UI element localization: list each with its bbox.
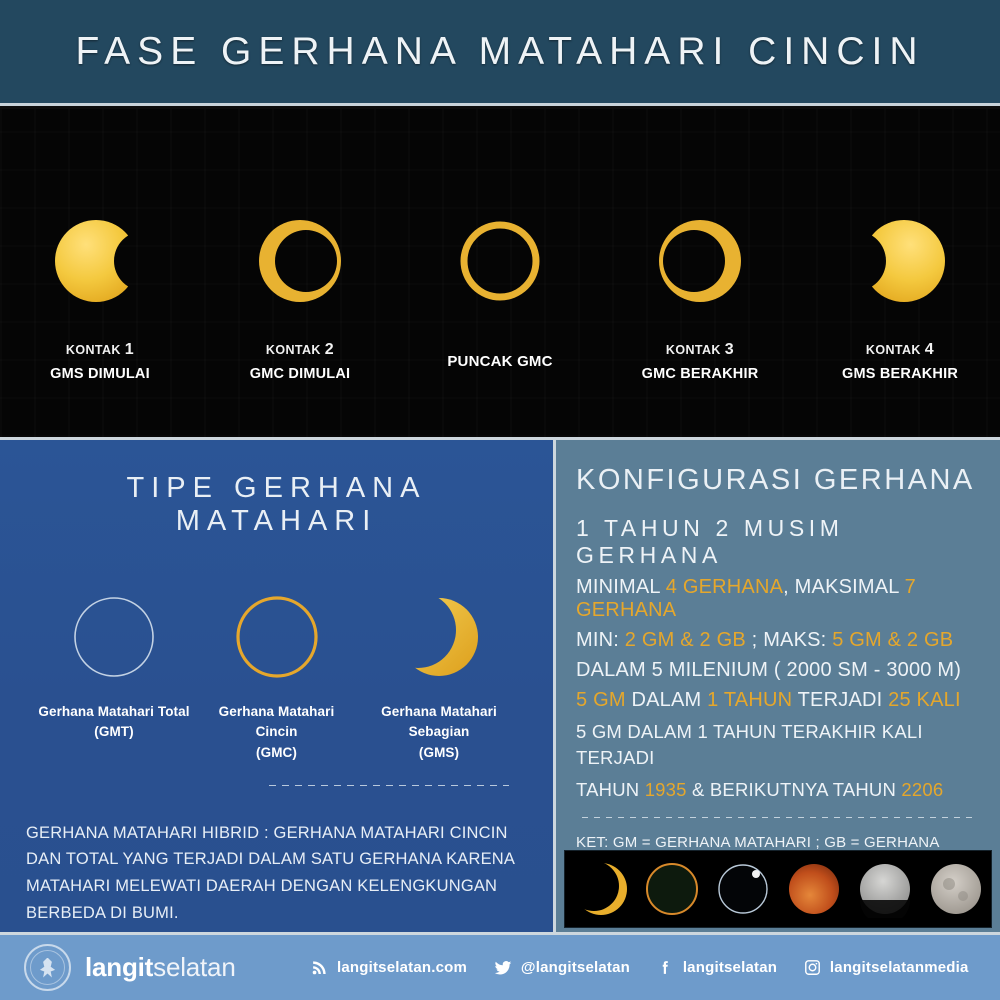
phase-caption-4: KONTAK 3 GMC BERAKHIR xyxy=(642,339,759,384)
brand-wordmark: langitselatan xyxy=(85,952,236,983)
config-line-minmaks: MIN: 2 GM & 2 GB ; MAKS: 5 GM & 2 GB xyxy=(576,629,982,652)
eclipse-photo-strip xyxy=(564,850,992,928)
phase-kontak-1: KONTAK 1 xyxy=(50,339,150,362)
phase-row: KONTAK 1 GMS DIMULAI KONTAK xyxy=(0,109,1000,437)
blood-moon-red-photo xyxy=(785,860,843,918)
social-link-twitter[interactable]: @langitselatan xyxy=(494,959,630,977)
facebook-icon xyxy=(657,959,674,976)
type-item-gmt: Gerhana Matahari Total (GMT) xyxy=(34,594,194,763)
config-panel: KONFIGURASI GERHANA 1 TAHUN 2 MUSIM GERH… xyxy=(556,437,1000,932)
social-label-facebook: langitselatan xyxy=(683,959,777,976)
instagram-icon xyxy=(804,959,821,976)
annulus-thick-right-icon xyxy=(648,209,752,313)
annular-ring-orange-photo xyxy=(643,860,701,918)
phase-sub-1: GMS DIMULAI xyxy=(50,364,150,385)
brand-logo[interactable]: langitselatan xyxy=(24,944,236,991)
total-eclipse-diamond-ring-photo xyxy=(714,860,772,918)
type-label-gms: Gerhana Matahari Sebagian (GMS) xyxy=(359,702,519,763)
phase-kontak-2: KONTAK 2 xyxy=(250,339,350,362)
phase-item-2: KONTAK 2 GMC DIMULAI xyxy=(200,109,400,437)
hybrid-description: GERHANA MATAHARI HIBRID : GERHANA MATAHA… xyxy=(26,820,527,927)
phase-sub-5: GMS BERAKHIR xyxy=(842,364,958,385)
types-divider xyxy=(269,785,509,786)
annulus-even-icon xyxy=(448,209,552,313)
rss-icon xyxy=(311,959,328,976)
full-moon-gray-photo xyxy=(927,860,985,918)
social-links: langitselatan.com @langitselatan langits… xyxy=(298,959,1000,977)
seal-icon xyxy=(24,944,71,991)
annular-crescent-gold-photo xyxy=(572,860,630,918)
phase-caption-5: KONTAK 4 GMS BERAKHIR xyxy=(842,339,958,384)
config-divider xyxy=(582,817,976,818)
social-label-website: langitselatan.com xyxy=(337,959,467,976)
infographic-root: FASE GERHANA MATAHARI CINCIN xyxy=(0,0,1000,1000)
types-row: Gerhana Matahari Total (GMT) Gerhana Mat… xyxy=(34,594,519,763)
type-label-gmt: Gerhana Matahari Total (GMT) xyxy=(38,702,189,743)
phase-kontak-5: KONTAK 4 xyxy=(842,339,958,362)
seal-figure-icon xyxy=(38,958,58,978)
page-title: FASE GERHANA MATAHARI CINCIN xyxy=(76,30,925,74)
phase-item-4: KONTAK 3 GMC BERAKHIR xyxy=(600,109,800,437)
social-label-twitter: @langitselatan xyxy=(521,959,630,976)
type-label-gmc: Gerhana Matahari Cincin (GMC) xyxy=(197,702,357,763)
annulus-thick-left-icon xyxy=(248,209,352,313)
social-link-website[interactable]: langitselatan.com xyxy=(311,959,467,976)
phase-item-3: PUNCAK GMC xyxy=(400,109,600,437)
partial-lunar-moon-photo xyxy=(856,860,914,918)
config-line-minmax: MINIMAL 4 GERHANA, MAKSIMAL 7 GERHANA xyxy=(576,576,982,622)
sun-partial-bite-left-icon xyxy=(848,209,952,313)
config-line-5gm: 5 GM DALAM 1 TAHUN TERJADI 25 KALI xyxy=(576,689,982,712)
phase-item-5: KONTAK 4 GMS BERAKHIR xyxy=(800,109,1000,437)
sun-partial-bite-right-icon xyxy=(48,209,152,313)
types-panel-title: TIPE GERHANA MATAHARI xyxy=(26,472,527,538)
header-bar: FASE GERHANA MATAHARI CINCIN xyxy=(0,0,1000,106)
phase-caption-1: KONTAK 1 GMS DIMULAI xyxy=(50,339,150,384)
ring-outline-gold-icon xyxy=(234,594,320,680)
phase-sub-2: GMC DIMULAI xyxy=(250,364,350,385)
config-panel-title: KONFIGURASI GERHANA xyxy=(576,464,982,497)
crescent-gold-icon xyxy=(396,594,482,680)
social-link-instagram[interactable]: langitselatanmedia xyxy=(804,959,969,976)
type-item-gmc: Gerhana Matahari Cincin (GMC) xyxy=(197,594,357,763)
twitter-icon xyxy=(494,959,512,977)
lower-section: TIPE GERHANA MATAHARI Gerhana Matahari T… xyxy=(0,437,1000,932)
phase-kontak-4: KONTAK 3 xyxy=(642,339,759,362)
types-panel: TIPE GERHANA MATAHARI Gerhana Matahari T… xyxy=(0,437,556,932)
social-label-instagram: langitselatanmedia xyxy=(830,959,969,976)
config-line-season: 1 TAHUN 2 MUSIM GERHANA xyxy=(576,515,982,569)
phase-sub-4: GMC BERAKHIR xyxy=(642,364,759,385)
phases-section: KONTAK 1 GMS DIMULAI KONTAK xyxy=(0,109,1000,437)
config-line-last-b: TAHUN 1935 & BERIKUTNYA TAHUN 2206 xyxy=(576,777,982,803)
type-item-gms: Gerhana Matahari Sebagian (GMS) xyxy=(359,594,519,763)
social-link-facebook[interactable]: langitselatan xyxy=(657,959,777,976)
phase-single-3: PUNCAK GMC xyxy=(447,351,552,372)
ring-outline-white-icon xyxy=(71,594,157,680)
footer-bar: langitselatan langitselatan.com xyxy=(0,932,1000,1000)
config-line-milenium: DALAM 5 MILENIUM ( 2000 SM - 3000 M) xyxy=(576,659,982,682)
phase-item-1: KONTAK 1 GMS DIMULAI xyxy=(0,109,200,437)
phase-caption-3: PUNCAK GMC xyxy=(447,339,552,372)
config-line-last-a: 5 GM DALAM 1 TAHUN TERAKHIR KALI TERJADI xyxy=(576,719,982,770)
phase-caption-2: KONTAK 2 GMC DIMULAI xyxy=(250,339,350,384)
